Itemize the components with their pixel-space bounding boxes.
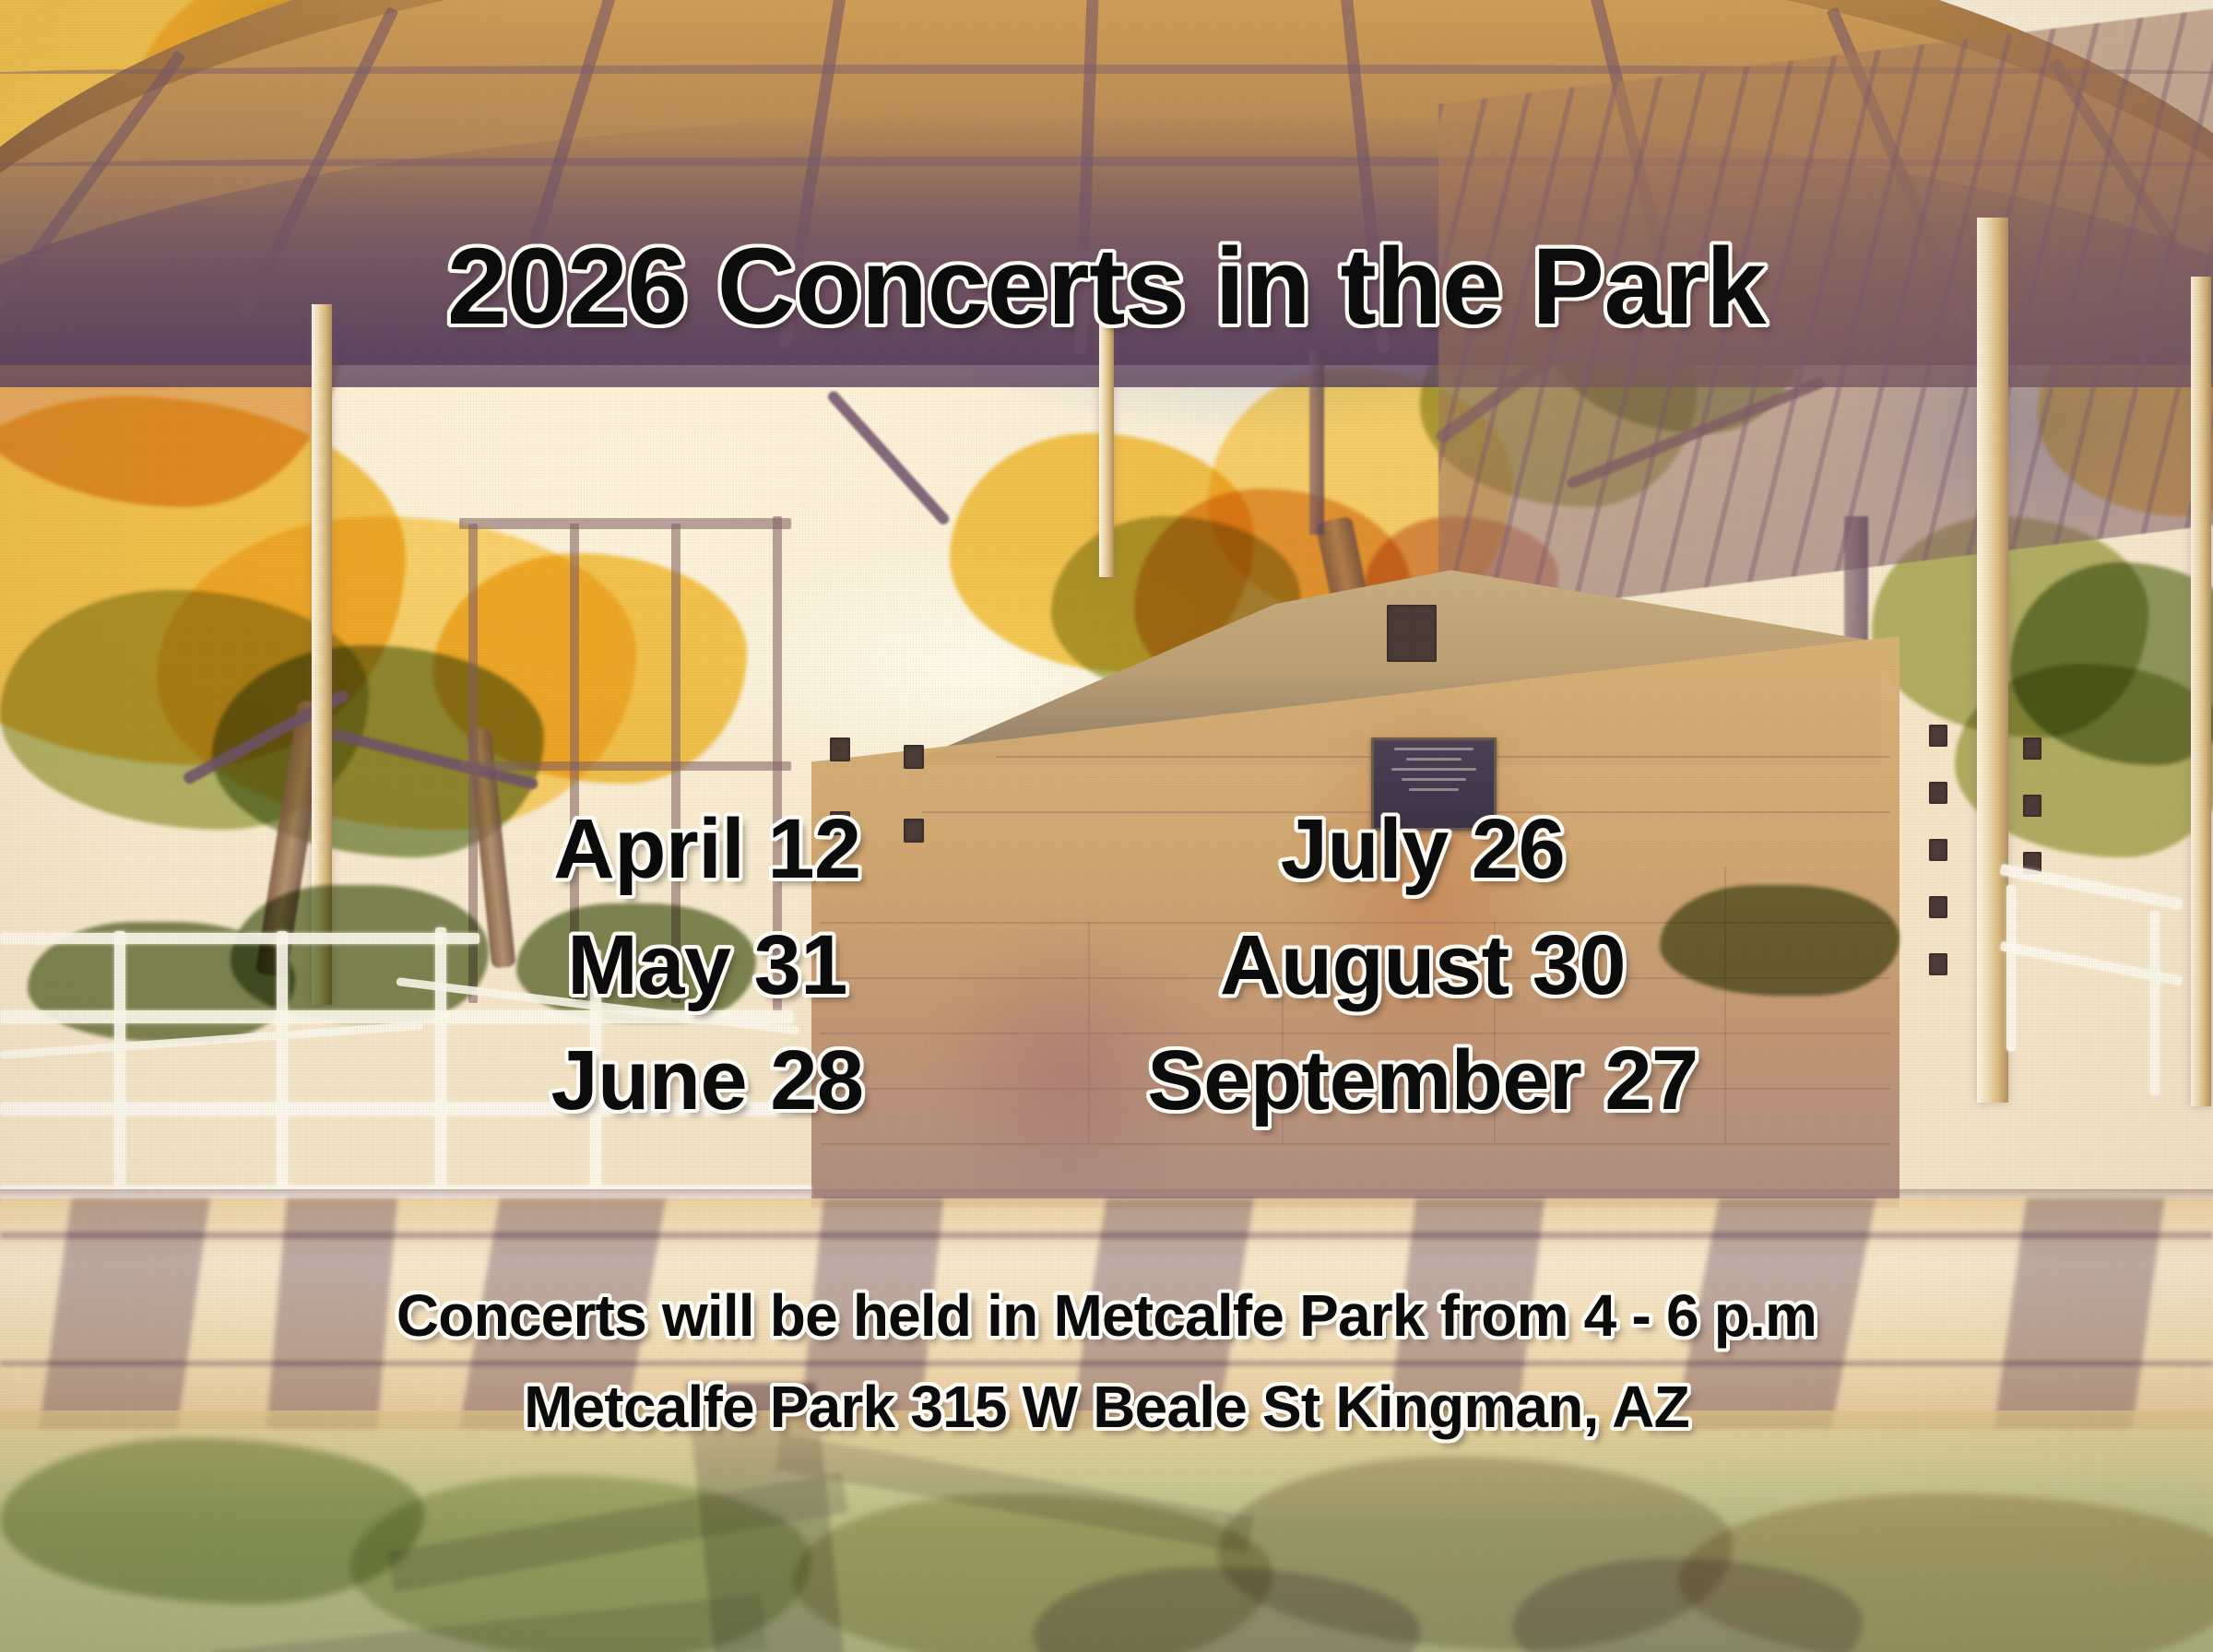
date-item: June 28 — [486, 1026, 929, 1137]
date-item: May 31 — [486, 911, 929, 1021]
poster-text-overlay: 2026 Concerts in the Park April 12 May 3… — [0, 0, 2213, 1652]
poster-footer: Concerts will be held in Metcalfe Park f… — [0, 1270, 2213, 1453]
footer-time-line: Concerts will be held in Metcalfe Park f… — [0, 1270, 2213, 1362]
concert-dates: April 12 May 31 June 28 July 26 August 3… — [0, 795, 2213, 1137]
concert-poster: 2026 Concerts in the Park April 12 May 3… — [0, 0, 2213, 1652]
date-item: September 27 — [1118, 1026, 1727, 1137]
poster-title-text: 2026 Concerts in the Park — [447, 226, 1766, 348]
dates-column-left: April 12 May 31 June 28 — [486, 795, 929, 1137]
footer-address-line: Metcalfe Park 315 W Beale St Kingman, AZ — [0, 1362, 2213, 1453]
date-item: August 30 — [1118, 911, 1727, 1021]
poster-title: 2026 Concerts in the Park — [0, 230, 2213, 345]
dates-column-right: July 26 August 30 September 27 — [1118, 795, 1727, 1137]
date-item: April 12 — [486, 795, 929, 905]
date-item: July 26 — [1118, 795, 1727, 905]
